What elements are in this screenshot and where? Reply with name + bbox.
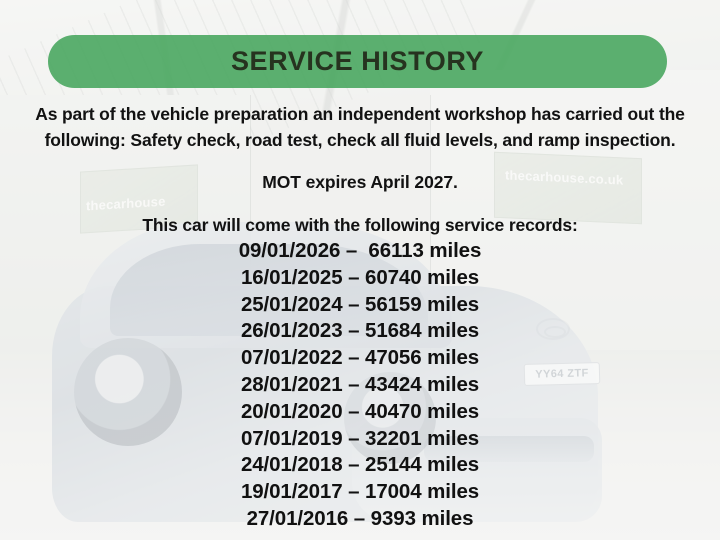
mot-expiry-text: MOT expires April 2027. xyxy=(6,172,714,193)
page-title: SERVICE HISTORY xyxy=(231,46,484,77)
service-records-heading: This car will come with the following se… xyxy=(6,215,714,236)
list-item: 07/01/2022 – 47056 miles xyxy=(6,345,714,372)
list-item: 26/01/2023 – 51684 miles xyxy=(6,318,714,345)
service-records-list: 09/01/2026 – 66113 miles 16/01/2025 – 60… xyxy=(6,238,714,533)
list-item: 25/01/2024 – 56159 miles xyxy=(6,292,714,319)
list-item: 09/01/2026 – 66113 miles xyxy=(6,238,714,265)
list-item: 28/01/2021 – 43424 miles xyxy=(6,372,714,399)
list-item: 19/01/2017 – 17004 miles xyxy=(6,479,714,506)
list-item: 27/01/2016 – 9393 miles xyxy=(6,506,714,533)
list-item: 07/01/2019 – 32201 miles xyxy=(6,426,714,453)
list-item: 16/01/2025 – 60740 miles xyxy=(6,265,714,292)
list-item: 20/01/2020 – 40470 miles xyxy=(6,399,714,426)
service-history-banner: SERVICE HISTORY xyxy=(48,35,667,88)
preparation-description: As part of the vehicle preparation an in… xyxy=(6,101,714,153)
list-item: 24/01/2018 – 25144 miles xyxy=(6,452,714,479)
service-history-card: SERVICE HISTORY As part of the vehicle p… xyxy=(0,0,720,540)
